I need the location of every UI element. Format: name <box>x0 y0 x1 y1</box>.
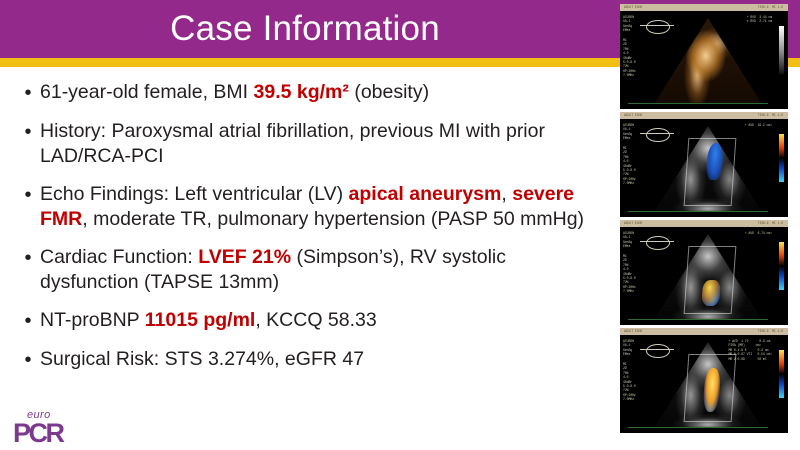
echo-color-doppler-mr-yellow: ADULT ECHOTIS0.6 MI 1.0ACUSON X8-1 GenSq… <box>620 328 788 433</box>
plain-text: , <box>501 183 512 205</box>
echo-gain-label: MI 2D 70% 4.0 40dBr <box>623 38 632 60</box>
echo-measurement-label: + AVD 19.2 cm² <box>745 123 772 127</box>
echo-gain-label: MI 2D 70% 4.0 40dBr <box>623 254 632 276</box>
bullet-item: •Echo Findings: Left ventricular (LV) ap… <box>16 182 608 232</box>
echo-header-right: TIS0.6 MI 1.0 <box>758 5 783 9</box>
bullet-item: •Cardiac Function: LVEF 21% (Simpson’s),… <box>16 245 608 295</box>
bullet-text: History: Paroxysmal atrial fibrillation,… <box>40 119 608 169</box>
plain-text: Cardiac Function: <box>40 246 198 268</box>
echo-measurement-label: + RVD 3.44 cm x RVD 2.71 cm <box>747 15 772 24</box>
echo-image-stack: ADULT ECHOTIS0.6 MI 1.0ACUSON X8-1 GenSq… <box>620 4 788 436</box>
bullet-item: •61-year-old female, BMI 39.5 kg/m² (obe… <box>16 80 608 106</box>
caliper-ellipse-icon <box>646 128 670 142</box>
logo-pcr-text: PCR <box>13 421 93 446</box>
echo-header-right: TIS0.6 MI 1.0 <box>758 329 783 333</box>
highlight-text: apical aneurysm <box>349 183 502 205</box>
depth-scale-line <box>628 103 768 104</box>
regurgitant-jet <box>703 368 722 412</box>
depth-scale-line <box>628 427 768 428</box>
plain-text: (obesity) <box>349 81 429 103</box>
bullet-text: Echo Findings: Left ventricular (LV) api… <box>40 182 608 232</box>
caliper-ellipse-icon <box>646 236 670 250</box>
bullet-list: •61-year-old female, BMI 39.5 kg/m² (obe… <box>16 80 608 386</box>
color-scale-bar <box>779 242 784 290</box>
caliper-ellipse-icon <box>646 20 670 34</box>
regurgitant-jet <box>701 280 721 306</box>
echo-color-doppler-mr-blue: ADULT ECHOTIS0.6 MI 1.0ACUSON X8-1 GenSq… <box>620 112 788 217</box>
plain-text: , KCCQ 58.33 <box>255 309 376 331</box>
echo-measurement-label: + AVD 6.74 cm² <box>745 231 772 235</box>
plain-text: 61-year-old female, BMI <box>40 81 254 103</box>
echo-probe-label: ACUSON X8-1 GenSq EMes <box>623 123 634 141</box>
echo-header-left: ADULT ECHO <box>624 329 642 333</box>
echo-probe-label: ACUSON X8-1 GenSq EMes <box>623 231 634 249</box>
caliper-line-icon <box>640 241 674 242</box>
color-scale-bar <box>779 134 784 182</box>
color-doppler-box <box>684 354 737 422</box>
echo-header-left: ADULT ECHO <box>624 221 642 225</box>
bullet-marker-icon: • <box>16 245 40 271</box>
depth-scale-line <box>628 211 768 212</box>
bullet-marker-icon: • <box>16 308 40 334</box>
bullet-marker-icon: • <box>16 119 40 145</box>
echo-header-left: ADULT ECHO <box>624 5 642 9</box>
highlight-text: 11015 pg/ml <box>145 309 256 331</box>
regurgitant-jet <box>706 143 725 180</box>
highlight-text: 39.5 kg/m² <box>254 81 349 103</box>
color-doppler-box <box>684 138 737 206</box>
grayscale-bar <box>779 26 784 74</box>
color-scale-bar <box>779 350 784 398</box>
bullet-marker-icon: • <box>16 347 40 373</box>
plain-text: Surgical Risk: STS 3.274%, eGFR 47 <box>40 348 364 370</box>
bullet-text: NT-proBNP 11015 pg/ml, KCCQ 58.33 <box>40 308 608 333</box>
plain-text: History: Paroxysmal atrial fibrillation,… <box>40 120 545 167</box>
plain-text: , moderate TR, pulmonary hypertension (P… <box>82 208 584 230</box>
echo-gain-label: MI 2D 70% 4.0 40dBr <box>623 362 632 384</box>
echo-freq-label: 5.0.8.0 72% HP:20Hz 7.0MHz <box>623 60 636 78</box>
echo-freq-label: 5.0.8.0 72% HP:20Hz 7.0MHz <box>623 384 636 402</box>
caliper-line-icon <box>640 349 674 350</box>
echo-probe-label: ACUSON X8-1 GenSq EMes <box>623 15 634 33</box>
echo-gain-label: MI 2D 70% 4.0 40dBr <box>623 146 632 168</box>
caliper-ellipse-icon <box>646 344 670 358</box>
bullet-marker-icon: • <box>16 182 40 208</box>
echo-probe-label: ACUSON X8-1 GenSq EMes <box>623 339 634 357</box>
echo-sector-scan <box>654 18 762 104</box>
bullet-text: 61-year-old female, BMI 39.5 kg/m² (obes… <box>40 80 608 105</box>
plain-text: Echo Findings: Left ventricular (LV) <box>40 183 349 205</box>
echo-header-left: ADULT ECHO <box>624 113 642 117</box>
bullet-marker-icon: • <box>16 80 40 106</box>
bullet-item: •History: Paroxysmal atrial fibrillation… <box>16 119 608 169</box>
caliper-line-icon <box>640 133 674 134</box>
highlight-text: LVEF 21% <box>198 246 291 268</box>
bullet-item: •NT-proBNP 11015 pg/ml, KCCQ 58.33 <box>16 308 608 334</box>
bullet-item: •Surgical Risk: STS 3.274%, eGFR 47 <box>16 347 608 373</box>
echo-header-right: TIS0.6 MI 1.0 <box>758 221 783 225</box>
plain-text: NT-proBNP <box>40 309 145 331</box>
bullet-text: Cardiac Function: LVEF 21% (Simpson’s), … <box>40 245 608 295</box>
echo-color-doppler-mr-mosaic: ADULT ECHOTIS0.6 MI 1.0ACUSON X8-1 GenSq… <box>620 220 788 325</box>
depth-scale-line <box>628 319 768 320</box>
echo-header-right: TIS0.6 MI 1.0 <box>758 113 783 117</box>
color-doppler-box <box>684 246 737 314</box>
caliper-line-icon <box>640 25 674 26</box>
echo-freq-label: 5.0.8.0 72% HP:20Hz 7.0MHz <box>623 276 636 294</box>
europcr-logo: euro PCR <box>13 409 93 447</box>
echo-2d-sepia-apical: ADULT ECHOTIS0.6 MI 1.0ACUSON X8-1 GenSq… <box>620 4 788 109</box>
echo-freq-label: 5.0.8.0 72% HP:20Hz 7.0MHz <box>623 168 636 186</box>
bullet-text: Surgical Risk: STS 3.274%, eGFR 47 <box>40 347 608 372</box>
